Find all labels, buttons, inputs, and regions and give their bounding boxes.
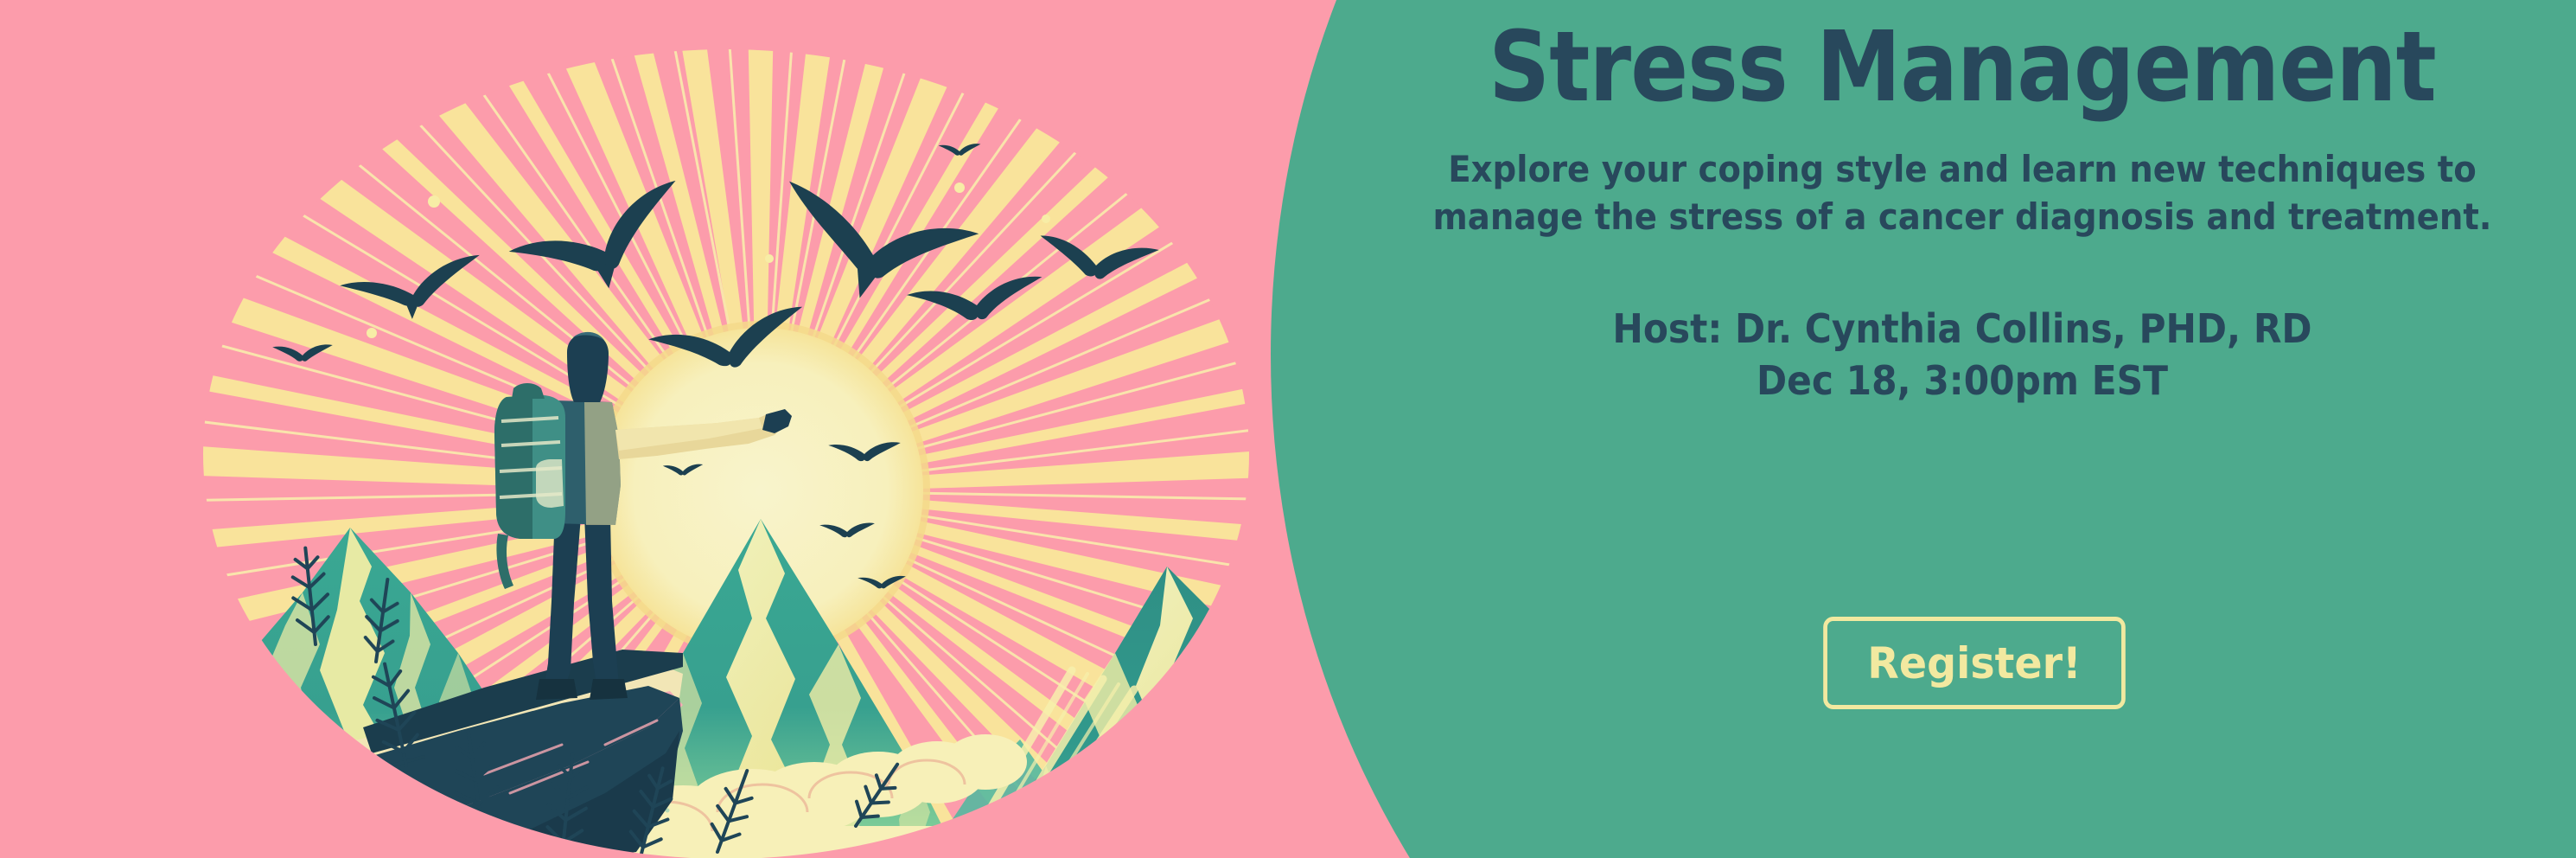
event-datetime: Dec 18, 3:00pm EST: [1398, 355, 2527, 407]
register-button[interactable]: Register!: [1823, 617, 2126, 709]
webinar-banner: Stress Management Explore your coping st…: [0, 0, 2576, 858]
page-title: Stress Management: [1422, 0, 2503, 116]
host-details: Host: Dr. Cynthia Collins, PHD, RD Dec 1…: [1349, 304, 2576, 407]
hiker-on-cliff-illustration: [199, 48, 1253, 858]
banner-subtitle: Explore your coping style and learn new …: [1430, 145, 2496, 241]
illustration-svg: [199, 48, 1253, 858]
illustration-artwork: [199, 48, 1253, 858]
banner-content: Stress Management Explore your coping st…: [1349, 0, 2576, 858]
host-name: Host: Dr. Cynthia Collins, PHD, RD: [1398, 304, 2527, 355]
